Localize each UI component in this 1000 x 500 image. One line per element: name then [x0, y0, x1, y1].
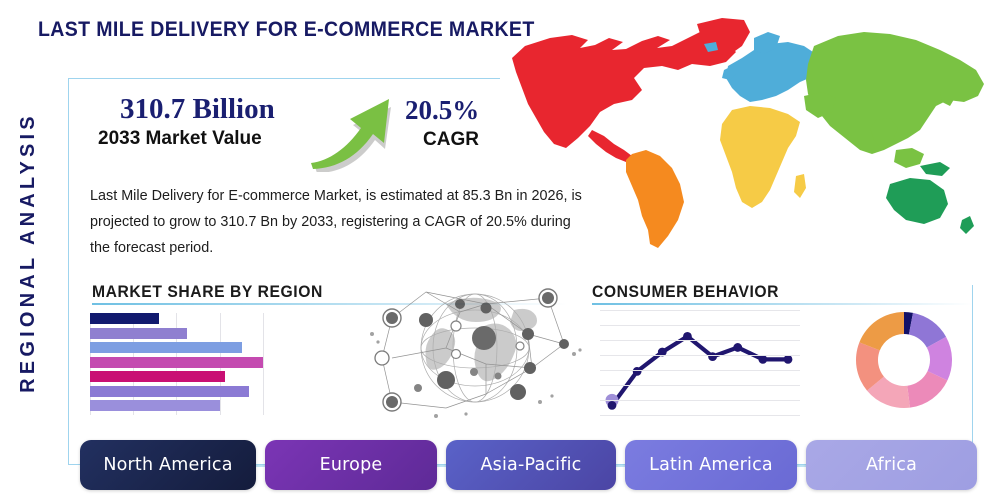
global-network-illustration [368, 276, 583, 421]
region-tab-africa[interactable]: Africa [806, 440, 977, 490]
region-tab-europe[interactable]: Europe [265, 440, 437, 490]
region-tab-asia-pacific[interactable]: Asia-Pacific [446, 440, 616, 490]
page-title: LAST MILE DELIVERY FOR E-COMMERCE MARKET [38, 18, 535, 42]
map-region-central-america [588, 130, 632, 162]
cagr-number: 20.5% [405, 95, 479, 126]
market-value-number: 310.7 Billion [120, 93, 275, 126]
consumer-behavior-line-chart [600, 310, 800, 415]
market-share-heading: MARKET SHARE BY REGION [92, 283, 323, 302]
bar-6 [90, 386, 249, 397]
bar-5 [90, 371, 225, 382]
line-gridline [600, 340, 800, 341]
bar-gridline [263, 313, 264, 415]
map-region-south-america [626, 150, 684, 248]
region-tab-latin-america[interactable]: Latin America [625, 440, 797, 490]
bar-7 [90, 400, 220, 411]
market-value-label: 2033 Market Value [98, 128, 262, 150]
consumer-behavior-heading-rule [592, 303, 972, 305]
market-summary-text: Last Mile Delivery for E-commerce Market… [90, 183, 590, 261]
segment-donut-chart [852, 308, 956, 412]
map-region-new-zealand [960, 216, 974, 234]
bar-3 [90, 342, 242, 353]
bar-4 [90, 357, 263, 368]
kpi-block: 310.7 Billion 2033 Market Value 20.5% CA… [90, 93, 510, 165]
map-region-new-guinea [920, 162, 950, 176]
map-region-australia [886, 178, 948, 224]
line-chart-gridlines [600, 310, 800, 415]
line-gridline [600, 385, 800, 386]
side-label-regional-analysis: REGIONAL ANALYSIS [6, 72, 50, 432]
bar-1 [90, 313, 159, 324]
market-share-bar-chart [90, 313, 280, 415]
cagr-label: CAGR [423, 129, 479, 151]
line-gridline [600, 400, 800, 401]
line-gridline [600, 370, 800, 371]
region-tabs[interactable]: North AmericaEuropeAsia-PacificLatin Ame… [80, 440, 985, 492]
map-region-sea [894, 148, 924, 168]
region-tab-north-america[interactable]: North America [80, 440, 256, 490]
line-gridline [600, 310, 800, 311]
growth-arrow-icon [305, 87, 410, 172]
donut-slice-7 [859, 312, 904, 350]
line-gridline [600, 355, 800, 356]
side-label-text: REGIONAL ANALYSIS [17, 112, 40, 393]
bar-2 [90, 328, 187, 339]
line-gridline [600, 415, 800, 416]
map-region-asia [806, 32, 984, 154]
map-region-madagascar [794, 174, 806, 198]
map-region-africa [720, 106, 800, 208]
consumer-behavior-heading: CONSUMER BEHAVIOR [592, 283, 779, 302]
line-gridline [600, 325, 800, 326]
